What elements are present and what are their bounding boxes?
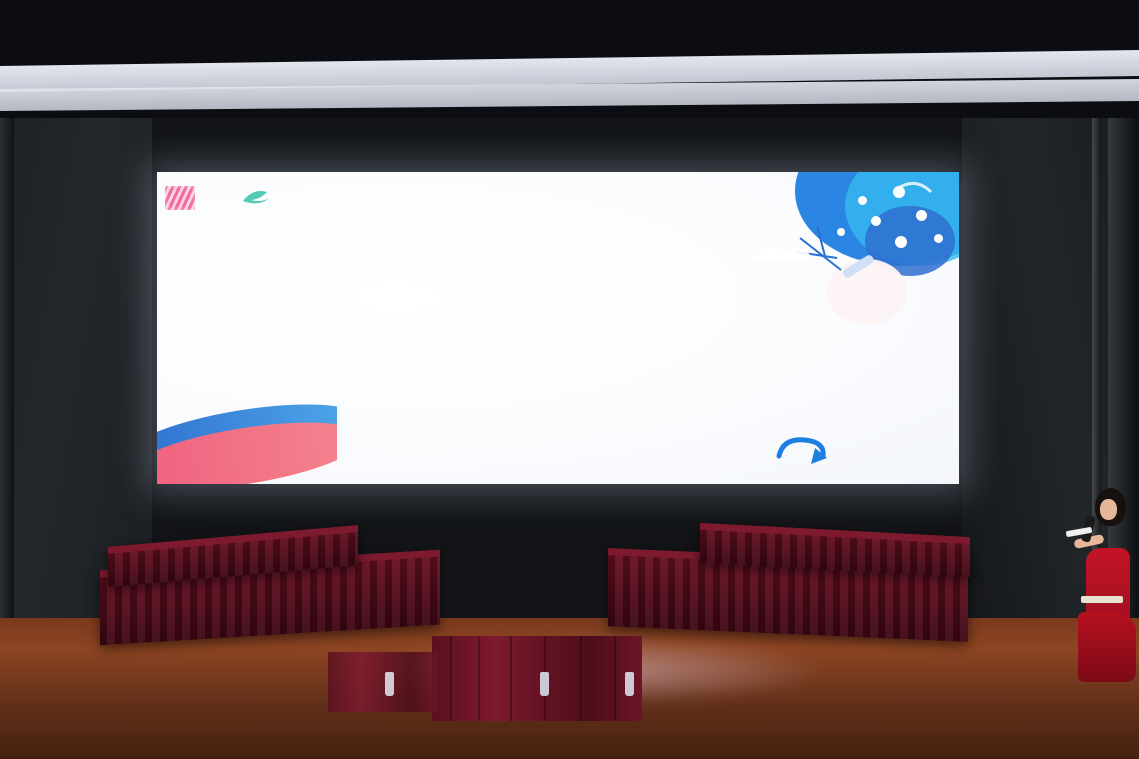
- left-pillar: [0, 118, 14, 663]
- projection-screen: [157, 172, 959, 484]
- sznews-logo: [241, 188, 280, 208]
- decorative-swoosh-bottom-left: [157, 402, 337, 484]
- screenshot-root: [0, 0, 1139, 759]
- stage-curtain-left: [328, 652, 438, 712]
- sznews-swoosh-icon: [241, 188, 275, 208]
- water-bottle: [540, 672, 549, 696]
- competition-emblem-icon: [165, 186, 195, 210]
- water-bottle: [625, 672, 634, 696]
- blue-arrow-graphic: [775, 436, 831, 466]
- ceiling: [0, 0, 1139, 132]
- host-belt: [1081, 596, 1123, 603]
- stage-curtain: [432, 636, 642, 721]
- slide-logo-row: [165, 180, 951, 216]
- water-bottle: [385, 672, 394, 696]
